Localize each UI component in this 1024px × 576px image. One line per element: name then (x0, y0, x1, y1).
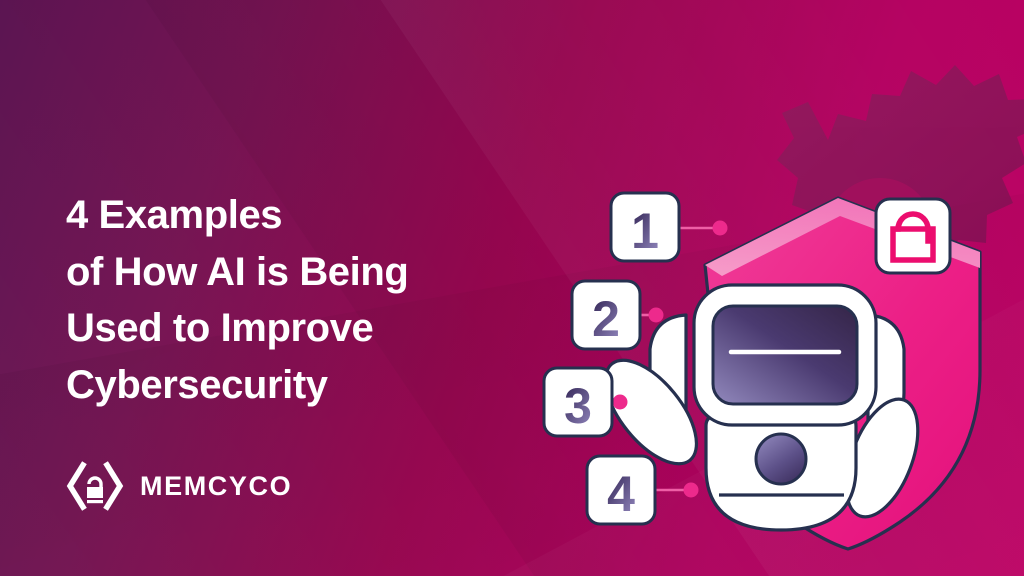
callout-number-3: 3 (564, 378, 592, 434)
page-title: 4 Examples of How AI is Being Used to Im… (66, 187, 536, 414)
callout-number-1: 1 (631, 203, 659, 259)
callout-card-4[interactable]: 4 (587, 456, 655, 524)
brackets-lock-icon (66, 461, 124, 511)
robot-body (706, 416, 856, 530)
lock-badge-card[interactable] (876, 199, 950, 273)
connector-dot-2 (649, 308, 664, 323)
banner-canvas: 1 2 3 4 4 Examples of How AI is Being Us… (0, 0, 1024, 576)
callout-card-3[interactable]: 3 (544, 368, 612, 436)
robot-face-screen (713, 306, 857, 404)
connector-dot-1 (713, 221, 728, 236)
callout-number-2: 2 (592, 291, 620, 347)
callout-number-4: 4 (607, 466, 635, 522)
robot-head (694, 285, 876, 425)
connector-dot-3 (613, 395, 628, 410)
callout-card-2[interactable]: 2 (572, 281, 640, 349)
callout-card-1[interactable]: 1 (611, 193, 679, 261)
brand-logo[interactable]: MEMCYCO (66, 461, 292, 511)
robot-chest-button (756, 434, 806, 484)
connector-dot-4 (684, 483, 699, 498)
brand-wordmark: MEMCYCO (140, 471, 292, 502)
